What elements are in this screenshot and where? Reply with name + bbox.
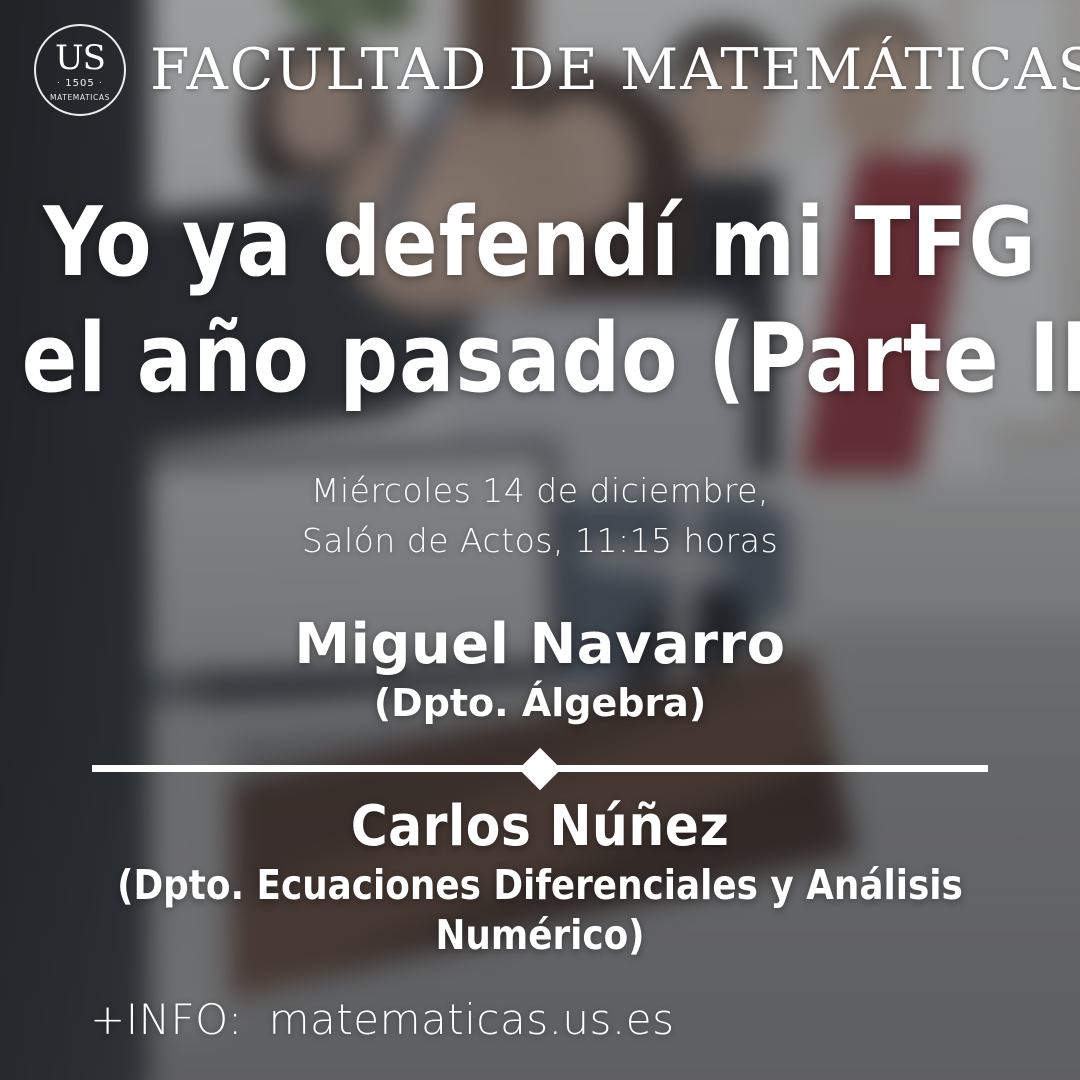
speaker-2-department: (Dpto. Ecuaciones Diferenciales y Anális… (16, 861, 1064, 959)
logo-department: MATEMÁTICAS (50, 94, 110, 102)
more-info: +INFO: matematicas.us.es (90, 995, 675, 1044)
event-date: Miércoles 14 de diciembre, (0, 466, 1080, 516)
logo-initials: US (55, 41, 105, 75)
diamond-icon (519, 747, 561, 789)
event-poster: US · 1505 · MATEMÁTICAS FACULTAD DE MATE… (0, 0, 1080, 1080)
speaker-1-department: (Dpto. Álgebra) (0, 681, 1080, 727)
speaker-block-2: Carlos Núñez (Dpto. Ecuaciones Diferenci… (0, 795, 1080, 960)
poster-content: US · 1505 · MATEMÁTICAS FACULTAD DE MATE… (0, 0, 1080, 1080)
page-title: Yo ya defendí mi TFG el año pasado (Part… (22, 186, 1059, 418)
speaker-block-1: Miguel Navarro (Dpto. Álgebra) (0, 614, 1080, 726)
event-place-time: Salón de Actos, 11:15 horas (0, 516, 1080, 566)
title-line-1: Yo ya defendí mi TFG (22, 186, 1059, 302)
poster-header: US · 1505 · MATEMÁTICAS FACULTAD DE MATE… (0, 24, 1080, 116)
section-divider (92, 765, 988, 772)
title-line-2: el año pasado (Parte II) (22, 302, 1059, 418)
us-seal-icon: US · 1505 · MATEMÁTICAS (34, 24, 126, 116)
logo-year: · 1505 · (57, 79, 103, 89)
event-datetime: Miércoles 14 de diciembre, Salón de Acto… (0, 466, 1080, 566)
website-url[interactable]: matematicas.us.es (269, 995, 675, 1044)
more-info-label: +INFO: (90, 995, 243, 1044)
speaker-2-name: Carlos Núñez (0, 795, 1080, 859)
faculty-title: FACULTAD DE MATEMÁTICAS (150, 42, 1080, 99)
speaker-1-name: Miguel Navarro (0, 614, 1080, 677)
